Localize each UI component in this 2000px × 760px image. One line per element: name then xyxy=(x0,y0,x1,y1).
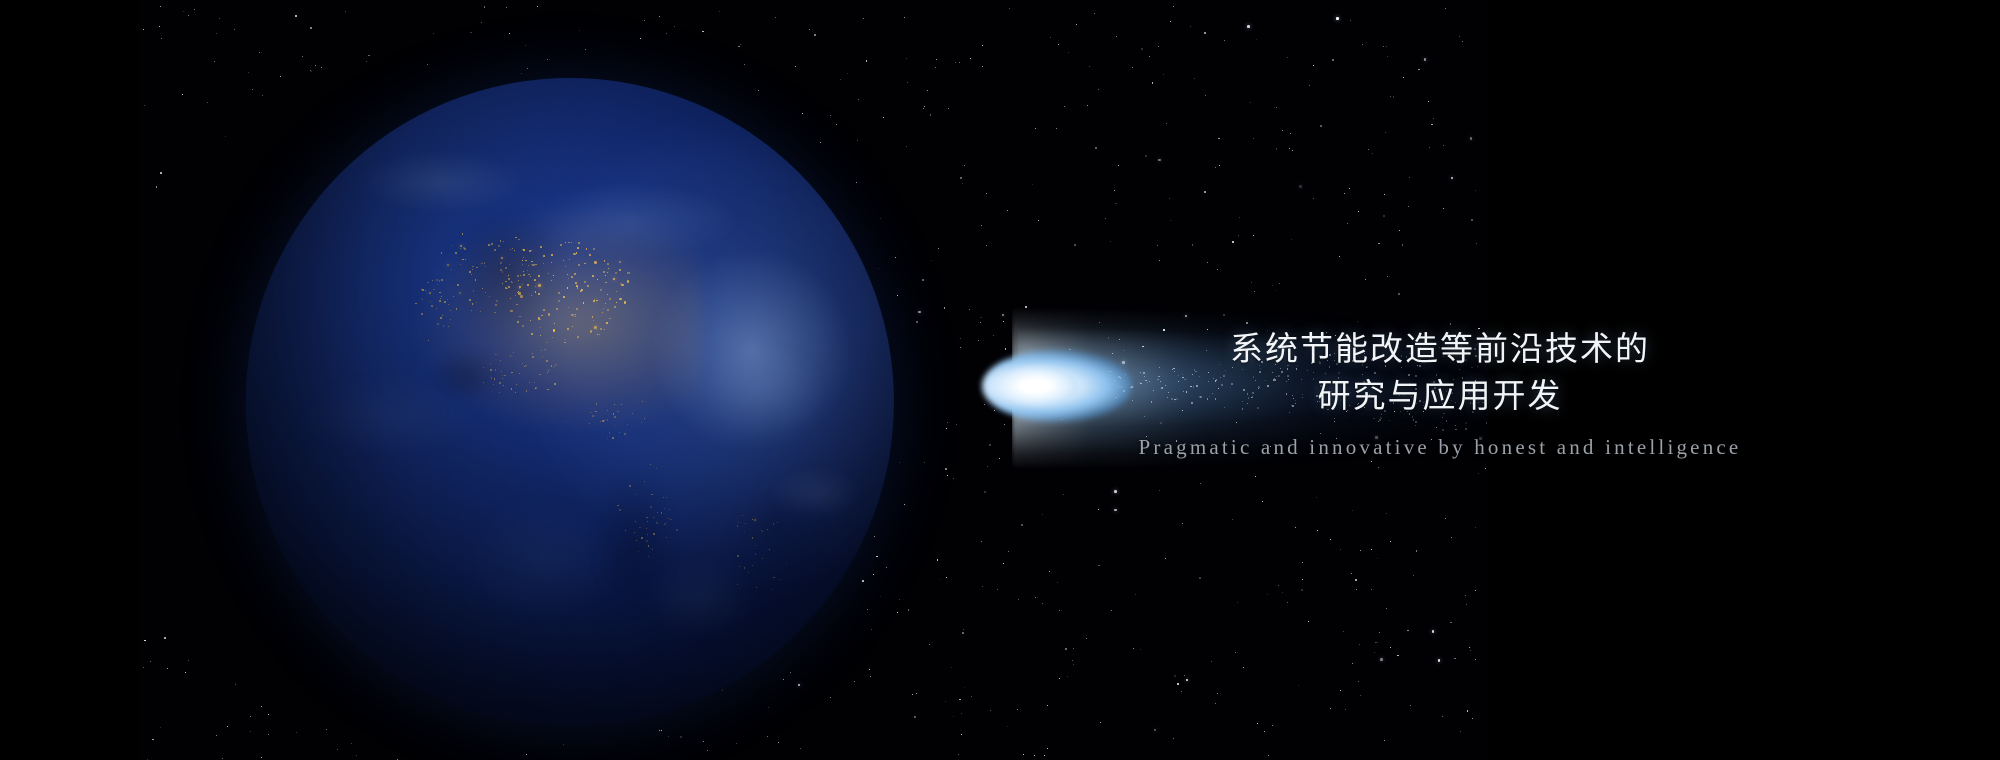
atmosphere-glow xyxy=(236,68,904,736)
subtitle: Pragmatic and innovative by honest and i… xyxy=(1060,435,1820,460)
banner-copy: 系统节能改造等前沿技术的 研究与应用开发 Pragmatic and innov… xyxy=(1060,325,1820,460)
headline-line-2: 研究与应用开发 xyxy=(1060,372,1820,419)
headline-line-1: 系统节能改造等前沿技术的 xyxy=(1060,325,1820,372)
hero-banner: 系统节能改造等前沿技术的 研究与应用开发 Pragmatic and innov… xyxy=(0,0,2000,760)
earth-globe xyxy=(246,78,894,726)
